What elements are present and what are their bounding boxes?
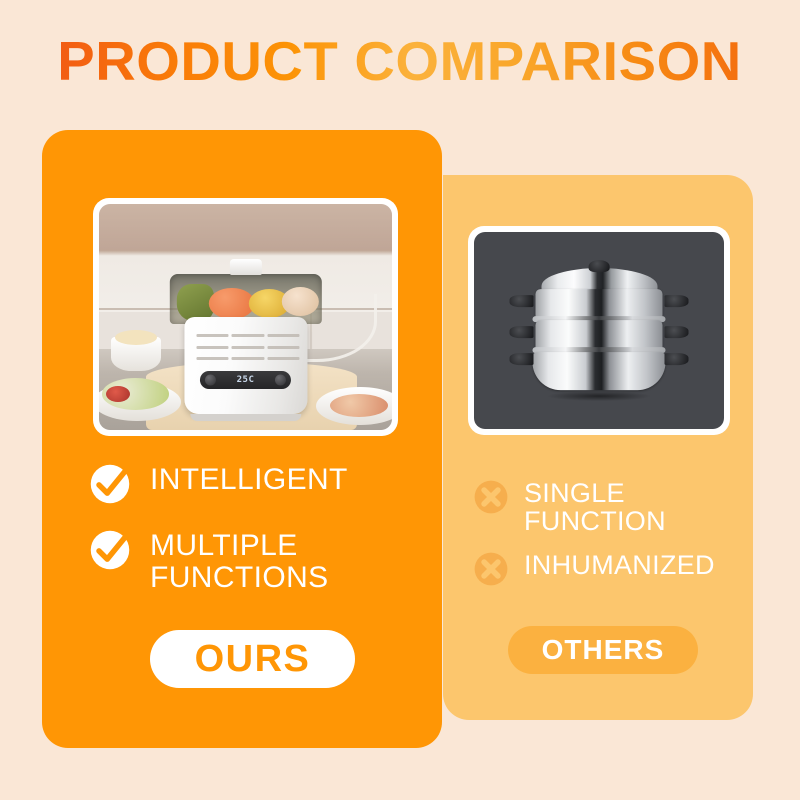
ours-feature-list: INTELLIGENT MULTIPLE FUNCTIONS <box>88 462 418 616</box>
food-bun <box>282 287 319 316</box>
steamer-handle-right-1 <box>664 295 689 307</box>
control-panel-labels <box>196 331 299 364</box>
ours-product-image: 25C <box>99 204 392 430</box>
side-dish-salad <box>102 378 169 410</box>
page-title: PRODUCT COMPARISON <box>58 34 742 89</box>
steamer-handle-left-2 <box>509 326 534 338</box>
x-circle-icon <box>472 478 510 516</box>
steamer-tier-3 <box>532 352 665 390</box>
ours-product-photo-frame: 25C <box>93 198 398 436</box>
others-product-image <box>474 232 724 429</box>
lcd-temperature-readout: 25C <box>237 375 255 385</box>
ours-feature-item: MULTIPLE FUNCTIONS <box>88 528 418 594</box>
steamer-handle-left-1 <box>509 295 534 307</box>
steamer-handle-right-3 <box>664 353 689 365</box>
ours-badge: OURS <box>150 630 355 688</box>
lcd-display: 25C <box>200 371 291 388</box>
glass-lid-knob <box>229 259 261 275</box>
steamer-shadow <box>547 391 651 401</box>
check-circle-icon <box>88 462 132 506</box>
others-feature-item: INHUMANIZED <box>472 550 752 588</box>
steamer-handle-left-3 <box>509 353 534 365</box>
steamer-base-unit: 25C <box>184 317 307 414</box>
ours-feature-item: INTELLIGENT <box>88 462 418 506</box>
page-header: PRODUCT COMPARISON <box>0 34 800 89</box>
control-dial-right[interactable] <box>275 375 286 386</box>
food-green-beans <box>177 284 214 321</box>
ours-feature-label: INTELLIGENT <box>150 464 348 496</box>
steel-steamer-illustration <box>527 260 672 402</box>
others-product-photo-frame <box>468 226 730 435</box>
ours-feature-label: MULTIPLE FUNCTIONS <box>150 530 418 594</box>
control-dial-left[interactable] <box>205 375 216 386</box>
others-feature-item: SINGLE FUNCTION <box>472 478 752 536</box>
others-feature-label: SINGLE FUNCTION <box>524 479 752 536</box>
lid-knob <box>588 260 610 273</box>
side-dish-ramekin <box>111 337 161 371</box>
check-circle-icon <box>88 528 132 572</box>
steamer-base-foot <box>190 414 301 421</box>
others-feature-label: INHUMANIZED <box>524 551 715 579</box>
x-circle-icon <box>472 550 510 588</box>
others-feature-list: SINGLE FUNCTION INHUMANIZED <box>472 478 752 602</box>
others-badge: OTHERS <box>508 626 698 674</box>
steamer-handle-right-2 <box>664 326 689 338</box>
